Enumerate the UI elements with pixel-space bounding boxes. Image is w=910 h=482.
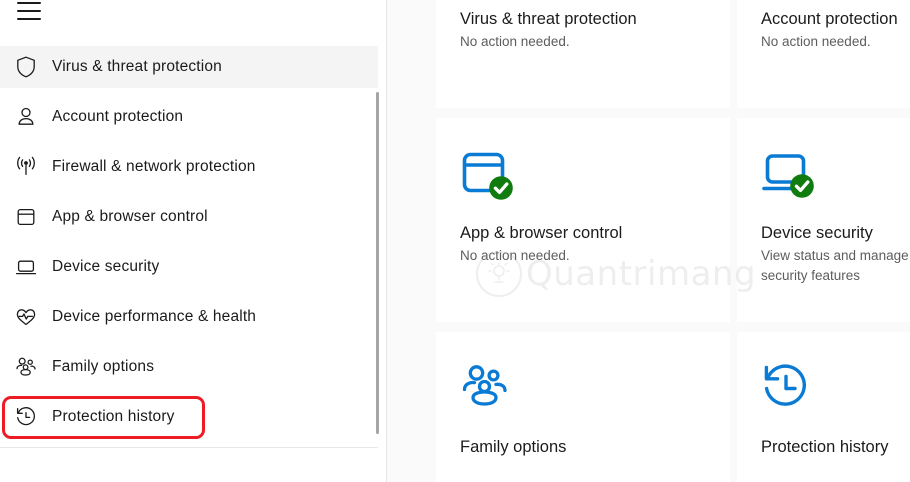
card-title: Account protection xyxy=(761,10,910,29)
sidebar-item-protection-history[interactable]: Protection history xyxy=(0,396,378,438)
card-title: Protection history xyxy=(761,438,910,457)
sidebar-item-label: App & browser control xyxy=(52,208,208,226)
main-content: Virus & threat protection No action need… xyxy=(387,0,910,482)
heart-pulse-icon xyxy=(8,305,44,329)
card-row: App & browser control No action needed. … xyxy=(436,118,910,322)
sidebar-item-label: Family options xyxy=(52,358,154,376)
hamburger-line xyxy=(17,10,41,12)
card-subtitle: View status and manage hardware security… xyxy=(761,246,910,285)
sidebar-item-app-browser-control[interactable]: App & browser control xyxy=(0,196,378,238)
card-row: Family options Protection history xyxy=(436,332,910,482)
browser-window-check-icon xyxy=(460,148,708,214)
sidebar-item-family-options[interactable]: Family options xyxy=(0,346,378,388)
card-app-browser-control[interactable]: App & browser control No action needed. xyxy=(436,118,730,322)
sidebar-item-label: Account protection xyxy=(52,108,183,126)
card-row: Virus & threat protection No action need… xyxy=(436,0,910,108)
hamburger-line xyxy=(17,18,41,20)
person-icon xyxy=(8,105,44,129)
sidebar-item-virus-threat-protection[interactable]: Virus & threat protection xyxy=(0,46,378,88)
hamburger-menu-icon[interactable] xyxy=(12,0,46,28)
sidebar-item-firewall-network-protection[interactable]: Firewall & network protection xyxy=(0,146,378,188)
card-subtitle: No action needed. xyxy=(460,246,700,266)
card-subtitle: No action needed. xyxy=(761,32,910,52)
laptop-check-icon xyxy=(761,148,910,214)
clock-history-icon xyxy=(8,405,44,429)
card-virus-threat-protection[interactable]: Virus & threat protection No action need… xyxy=(436,0,730,108)
security-cards-grid: Virus & threat protection No action need… xyxy=(436,0,910,482)
windows-security-window: Virus & threat protection Account protec… xyxy=(0,0,910,482)
people-group-icon xyxy=(8,355,44,379)
sidebar-item-device-security[interactable]: Device security xyxy=(0,246,378,288)
card-protection-history[interactable]: Protection history xyxy=(737,332,910,482)
wifi-signal-icon xyxy=(8,155,44,179)
sidebar-scrollbar-thumb[interactable] xyxy=(376,92,379,434)
card-account-protection[interactable]: Account protection No action needed. xyxy=(737,0,910,108)
sidebar-nav: Virus & threat protection Account protec… xyxy=(0,46,386,438)
people-group-icon xyxy=(460,362,708,428)
sidebar-item-label: Device security xyxy=(52,258,159,276)
hamburger-line xyxy=(17,2,41,4)
card-subtitle: No action needed. xyxy=(460,32,700,52)
card-device-security[interactable]: Device security View status and manage h… xyxy=(737,118,910,322)
sidebar-item-label: Device performance & health xyxy=(52,308,256,326)
sidebar-item-label: Firewall & network protection xyxy=(52,158,256,176)
card-title: Virus & threat protection xyxy=(460,10,708,29)
sidebar-item-label: Virus & threat protection xyxy=(52,58,222,76)
clock-history-icon xyxy=(761,362,910,428)
card-family-options[interactable]: Family options xyxy=(436,332,730,482)
card-title: Device security xyxy=(761,224,910,243)
shield-icon xyxy=(8,55,44,79)
laptop-icon xyxy=(8,255,44,279)
sidebar-item-device-performance-health[interactable]: Device performance & health xyxy=(0,296,378,338)
sidebar: Virus & threat protection Account protec… xyxy=(0,0,387,482)
browser-window-icon xyxy=(8,205,44,229)
card-title: App & browser control xyxy=(460,224,708,243)
card-title: Family options xyxy=(460,438,708,457)
sidebar-divider xyxy=(0,447,378,448)
sidebar-item-label: Protection history xyxy=(52,408,175,426)
sidebar-item-account-protection[interactable]: Account protection xyxy=(0,96,378,138)
